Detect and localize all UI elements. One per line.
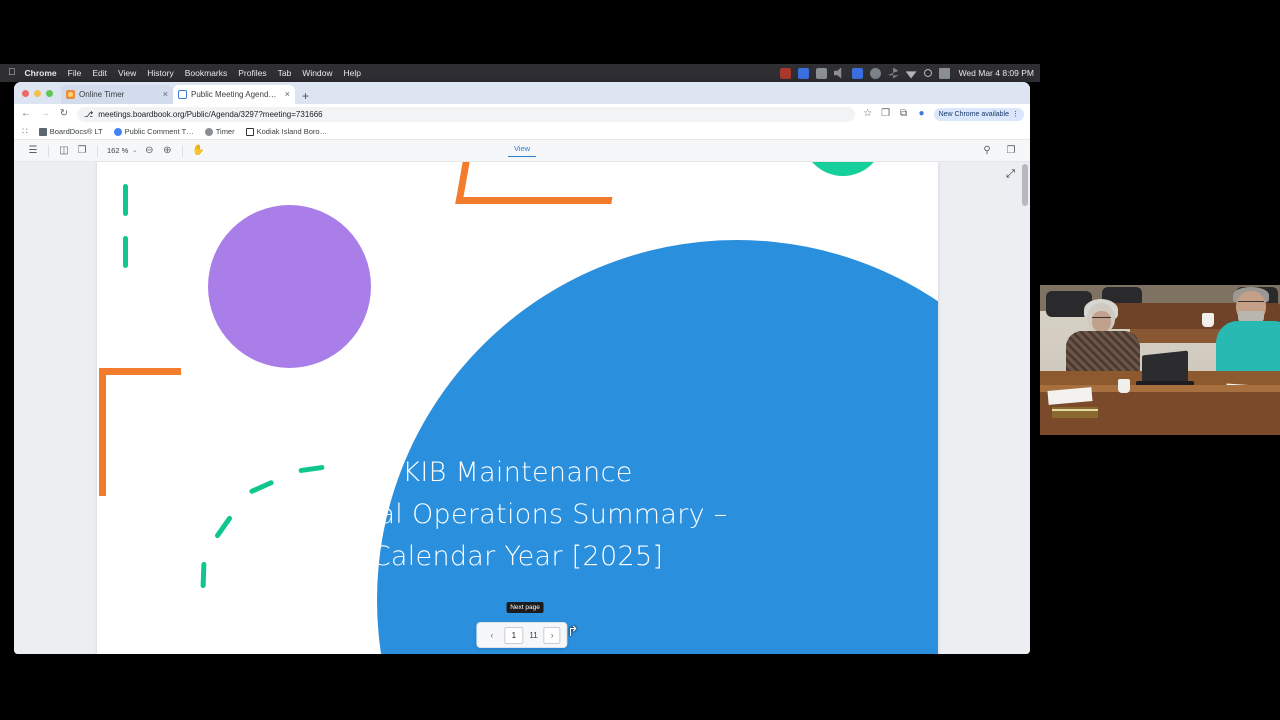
divider xyxy=(182,145,183,157)
divider xyxy=(97,145,98,157)
tab-online-timer[interactable]: Online Timer × xyxy=(61,85,173,104)
spotlight-icon[interactable] xyxy=(924,69,932,77)
bookmark-timer[interactable]: Timer xyxy=(205,127,235,136)
pan-tool-icon[interactable]: ✋ xyxy=(189,143,207,159)
decorative-teal-circle xyxy=(802,162,884,176)
timer-favicon xyxy=(66,90,75,99)
decorative-blue-circle xyxy=(377,240,938,654)
document-favicon xyxy=(178,90,187,99)
menu-item-profiles[interactable]: Profiles xyxy=(238,68,266,78)
close-icon[interactable]: × xyxy=(161,90,168,99)
tab-view-label: View xyxy=(514,144,530,153)
slide-title: KIB Maintenance Annual Operations Summar… xyxy=(97,452,938,578)
scrollbar-thumb[interactable] xyxy=(1022,164,1028,206)
screen-share-icon[interactable] xyxy=(852,68,863,79)
screen-root:  Chrome File Edit View History Bookmark… xyxy=(0,0,1280,720)
display-icon[interactable] xyxy=(798,68,809,79)
close-icon[interactable]: × xyxy=(283,90,290,99)
macos-menu-bar:  Chrome File Edit View History Bookmark… xyxy=(0,64,1040,82)
chrome-menu-icon[interactable]: ⋮ xyxy=(1012,110,1019,118)
divider xyxy=(48,145,49,157)
slide-title-line-1: KIB Maintenance xyxy=(97,452,938,494)
zoom-level-value: 162 % xyxy=(107,146,128,155)
address-bar-url: meetings.boardbook.org/Public/Agenda/329… xyxy=(98,110,847,119)
apps-grid-icon[interactable]: ∷ xyxy=(22,126,28,137)
page-number-input[interactable]: 1 xyxy=(504,627,523,644)
decorative-green-dash xyxy=(123,184,128,216)
expand-fullscreen-icon[interactable]: ⤢ xyxy=(1002,166,1019,183)
tab-search-icon[interactable]: ⧉ xyxy=(898,109,910,119)
bookmark-public-comment[interactable]: Public Comment T… xyxy=(114,127,194,136)
bookmark-label: Timer xyxy=(216,127,235,136)
coffee-mug xyxy=(1202,313,1214,327)
minimize-window-button[interactable] xyxy=(34,90,41,97)
tab-public-meeting-agenda[interactable]: Public Meeting Agenda: Mar × xyxy=(173,85,295,104)
menu-icon[interactable]: ☰ xyxy=(24,143,42,159)
name-plate xyxy=(1052,407,1098,418)
vpn-icon[interactable] xyxy=(870,68,881,79)
pdf-toolbar-right-group: ⚲ ❐ xyxy=(978,143,1020,159)
menu-bar-status-area: Wed Mar 4 8:09 PM xyxy=(780,68,1040,79)
share-icon[interactable]: ❐ xyxy=(880,109,892,119)
pdf-page-1: KIB Maintenance Annual Operations Summar… xyxy=(97,162,938,654)
close-window-button[interactable] xyxy=(22,90,29,97)
menu-item-chrome[interactable]: Chrome xyxy=(25,68,57,78)
tab-title: Online Timer xyxy=(79,90,157,99)
previous-page-button[interactable]: ‹ xyxy=(483,627,500,644)
apple-icon[interactable]:  xyxy=(8,68,16,78)
person-right-glasses xyxy=(1238,301,1264,305)
tab-view[interactable]: View xyxy=(508,140,536,162)
bookmark-kodiak-island-borough[interactable]: Kodiak Island Boro… xyxy=(246,127,327,136)
menu-item-edit[interactable]: Edit xyxy=(92,68,107,78)
chrome-window: Online Timer × Public Meeting Agenda: Ma… xyxy=(14,82,1030,654)
back-icon[interactable]: ← xyxy=(20,109,32,119)
slide-title-line-2: Annual Operations Summary – xyxy=(97,494,938,536)
pdf-pagination: ‹ 1 11 › Next page xyxy=(476,622,567,648)
next-page-tooltip: Next page xyxy=(506,602,544,613)
browser-toolbar: ← → ↻ ⎇ meetings.boardbook.org/Public/Ag… xyxy=(14,104,1030,124)
window-controls xyxy=(22,82,61,104)
site-info-icon[interactable]: ⎇ xyxy=(84,110,93,119)
toolbar-right-group: ☆ ❐ ⧉ ● New Chrome available ⋮ xyxy=(862,108,1024,121)
boarddocs-favicon xyxy=(39,128,47,136)
profile-avatar-icon[interactable]: ● xyxy=(916,109,928,119)
decorative-orange-bracket-top xyxy=(455,162,627,204)
new-tab-button[interactable]: + xyxy=(295,90,316,104)
tab-strip: Online Timer × Public Meeting Agenda: Ma… xyxy=(14,82,1030,104)
screen-record-icon[interactable] xyxy=(780,68,791,79)
volume-icon[interactable] xyxy=(834,68,845,79)
tab-active-underline xyxy=(508,156,536,158)
bluetooth-icon[interactable] xyxy=(888,68,899,79)
new-chrome-available-button[interactable]: New Chrome available ⋮ xyxy=(934,108,1024,121)
kodiak-favicon xyxy=(246,128,254,136)
bookmark-label: Public Comment T… xyxy=(125,127,194,136)
zoom-window-button[interactable] xyxy=(46,90,53,97)
vertical-scrollbar[interactable] xyxy=(1022,164,1028,652)
pdf-viewer-toolbar: ☰ ◫ ❐ 162 % ⌄ ⊖ ⊕ ✋ View ⚲ ❐ xyxy=(14,140,1030,162)
timer-favicon xyxy=(205,128,213,136)
menu-item-file[interactable]: File xyxy=(68,68,82,78)
decorative-purple-circle xyxy=(208,205,371,368)
slide-title-line-3: Calendar Year [2025] xyxy=(97,536,938,578)
pdf-canvas-area[interactable]: KIB Maintenance Annual Operations Summar… xyxy=(14,162,1030,654)
menu-item-history[interactable]: History xyxy=(147,68,173,78)
search-icon[interactable]: ⚲ xyxy=(978,143,996,159)
forward-icon: → xyxy=(39,109,51,119)
menu-item-window[interactable]: Window xyxy=(302,68,332,78)
coffee-mug xyxy=(1118,379,1130,393)
airplay-icon[interactable] xyxy=(816,68,827,79)
bookmarks-bar: ∷ BoardDocs® LT Public Comment T… Timer … xyxy=(14,124,1030,140)
wifi-icon[interactable] xyxy=(906,68,917,79)
webcam-video-feed[interactable] xyxy=(1040,285,1280,435)
thumbnail-view-icon[interactable]: ❐ xyxy=(73,143,91,159)
person-left-face xyxy=(1092,311,1111,332)
reload-icon[interactable]: ↻ xyxy=(58,109,70,119)
control-center-icon[interactable] xyxy=(939,68,950,79)
comment-icon[interactable]: ❐ xyxy=(1002,143,1020,159)
sidebar-toggle-icon[interactable]: ◫ xyxy=(55,143,73,159)
decorative-green-dash xyxy=(123,236,128,268)
bookmark-star-icon[interactable]: ☆ xyxy=(862,109,874,119)
address-bar[interactable]: ⎇ meetings.boardbook.org/Public/Agenda/3… xyxy=(77,107,855,122)
menu-item-help[interactable]: Help xyxy=(344,68,361,78)
person-left-glasses xyxy=(1092,317,1111,321)
next-page-button[interactable]: › xyxy=(544,627,561,644)
zoom-out-icon[interactable]: ⊖ xyxy=(140,143,158,159)
total-pages-label: 11 xyxy=(527,631,539,640)
menu-item-bookmarks[interactable]: Bookmarks xyxy=(185,68,228,78)
menu-item-tab[interactable]: Tab xyxy=(278,68,292,78)
zoom-in-icon[interactable]: ⊕ xyxy=(158,143,176,159)
menu-item-view[interactable]: View xyxy=(118,68,136,78)
bookmark-boarddocs[interactable]: BoardDocs® LT xyxy=(39,127,103,136)
zoom-level-select[interactable]: 162 % ⌄ xyxy=(104,146,140,155)
chevron-down-icon: ⌄ xyxy=(132,147,137,154)
mouse-cursor: ↱ xyxy=(567,624,581,642)
tab-title: Public Meeting Agenda: Mar xyxy=(191,90,279,99)
bookmark-label: Kodiak Island Boro… xyxy=(257,127,327,136)
bookmark-label: BoardDocs® LT xyxy=(50,127,103,136)
google-favicon xyxy=(114,128,122,136)
menu-bar-clock[interactable]: Wed Mar 4 8:09 PM xyxy=(957,68,1034,78)
update-chip-label: New Chrome available xyxy=(939,111,1009,118)
